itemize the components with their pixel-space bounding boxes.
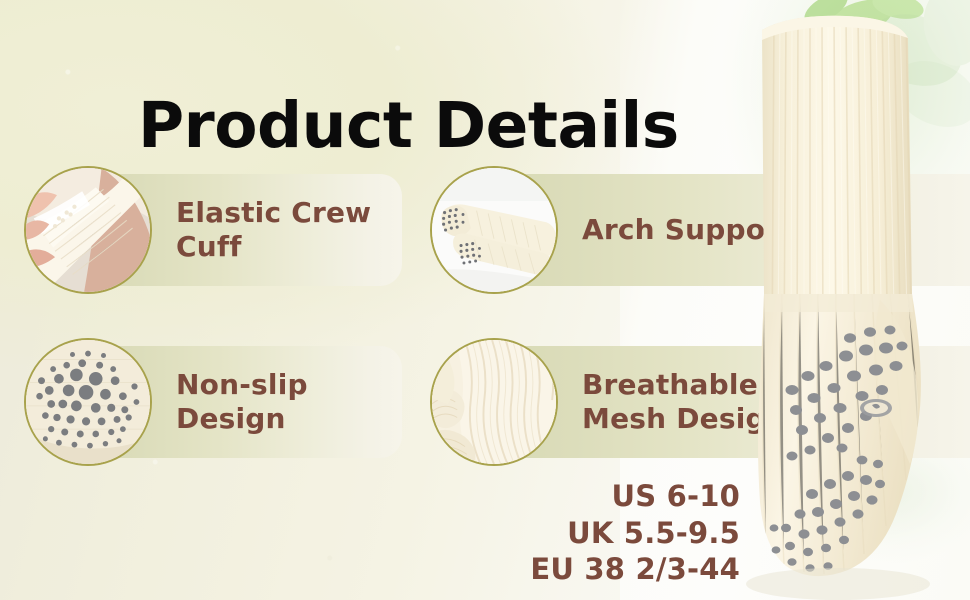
feature-card-elastic-crew-cuff: Elastic Crew Cuff [24, 166, 402, 294]
product-details-infographic: Product Details [0, 0, 970, 600]
sock-cuff-photo [24, 166, 152, 294]
size-uk: UK 5.5-9.5 [440, 515, 740, 552]
grip-dots-photo [24, 338, 152, 466]
socks-pair-photo [430, 166, 558, 294]
knit-mesh-photo [430, 338, 558, 466]
page-title: Product Details [138, 94, 679, 157]
size-eu: EU 38 2/3-44 [440, 551, 740, 588]
size-us: US 6-10 [440, 478, 740, 515]
feature-label: Non-slip Design [176, 338, 402, 466]
feature-label: Elastic Crew Cuff [176, 166, 402, 294]
cream-crew-sock-photo [730, 0, 970, 600]
feature-card-non-slip-design: Non-slip Design [24, 338, 402, 466]
size-chart: US 6-10 UK 5.5-9.5 EU 38 2/3-44 [440, 478, 740, 588]
